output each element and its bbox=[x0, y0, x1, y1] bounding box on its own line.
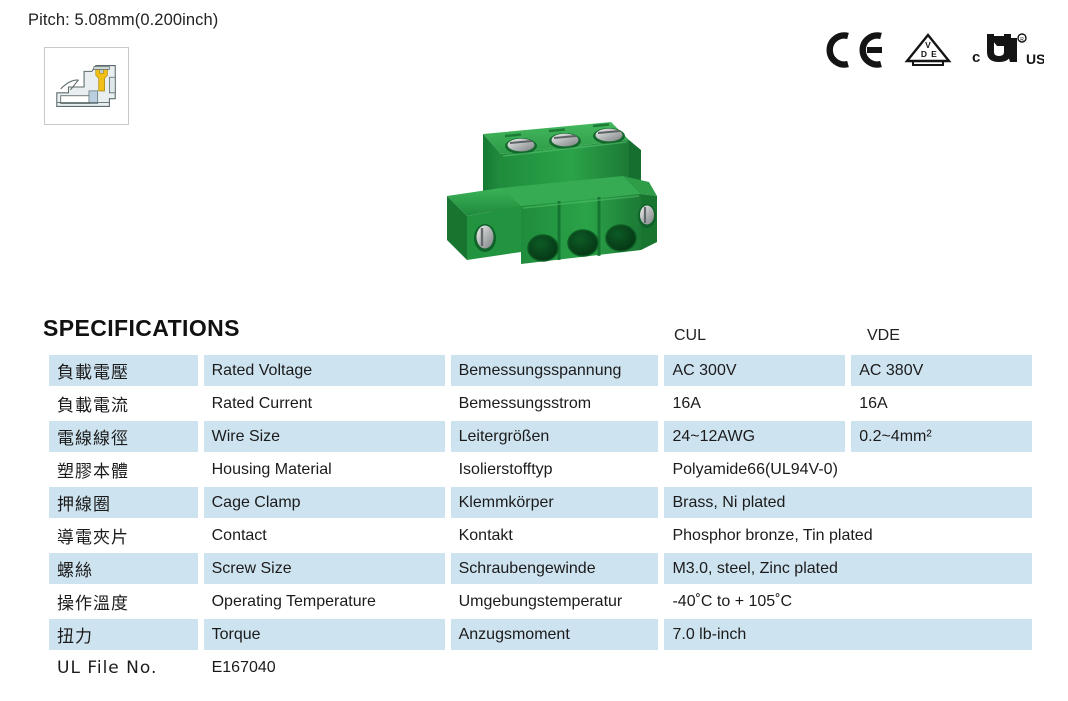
cell-value-cul: AC 300V bbox=[664, 355, 845, 386]
cell-label-de: Bemessungsstrom bbox=[451, 388, 659, 419]
cell-label-de: Anzugsmoment bbox=[451, 619, 659, 650]
svg-text:D: D bbox=[921, 49, 927, 59]
cell-label-en: Cage Clamp bbox=[204, 487, 445, 518]
cell-label-de: Schraubengewinde bbox=[451, 553, 659, 584]
cell-label-de: Bemessungsspannung bbox=[451, 355, 659, 386]
cell-label-de: Klemmkörper bbox=[451, 487, 659, 518]
cross-section-thumbnail[interactable] bbox=[44, 47, 129, 125]
cell-value-cul: 24~12AWG bbox=[664, 421, 845, 452]
cell-label-zh: 塑膠本體 bbox=[49, 454, 198, 485]
table-row: 押線圈Cage ClampKlemmkörperBrass, Ni plated bbox=[49, 487, 1032, 518]
terminal-block-plug-photo-icon bbox=[425, 100, 677, 296]
cell-label-zh: 押線圈 bbox=[49, 487, 198, 518]
cell-label-en: Operating Temperature bbox=[204, 586, 445, 617]
cell-empty bbox=[451, 652, 1032, 683]
cell-label-zh: 螺絲 bbox=[49, 553, 198, 584]
table-row: 負載電壓Rated VoltageBemessungsspannungAC 30… bbox=[49, 355, 1032, 386]
table-row: UL File No.E167040 bbox=[49, 652, 1032, 683]
cell-label-zh: UL File No. bbox=[49, 652, 198, 683]
cell-label-en: Rated Current bbox=[204, 388, 445, 419]
pitch-label: Pitch: 5.08mm(0.200inch) bbox=[28, 11, 218, 30]
cell-label-en: Housing Material bbox=[204, 454, 445, 485]
cert-column-header-cul: CUL bbox=[674, 327, 706, 345]
cell-label-zh: 扭力 bbox=[49, 619, 198, 650]
specifications-table: 負載電壓Rated VoltageBemessungsspannungAC 30… bbox=[43, 353, 1038, 685]
table-row: 負載電流Rated CurrentBemessungsstrom16A16A bbox=[49, 388, 1032, 419]
specifications-table-body: 負載電壓Rated VoltageBemessungsspannungAC 30… bbox=[49, 355, 1032, 683]
svg-text:US: US bbox=[1026, 51, 1044, 67]
cell-label-en: Wire Size bbox=[204, 421, 445, 452]
svg-text:R: R bbox=[1020, 37, 1024, 43]
svg-text:c: c bbox=[972, 49, 980, 66]
cell-label-en: Torque bbox=[204, 619, 445, 650]
cell-label-zh: 導電夾片 bbox=[49, 520, 198, 551]
cell-value-common: 7.0 lb-inch bbox=[664, 619, 1032, 650]
cell-label-de: Isolierstofftyp bbox=[451, 454, 659, 485]
cell-value-common: M3.0, steel, Zinc plated bbox=[664, 553, 1032, 584]
table-row: 扭力TorqueAnzugsmoment7.0 lb-inch bbox=[49, 619, 1032, 650]
cell-label-de: Kontakt bbox=[451, 520, 659, 551]
cross-section-diagram-icon bbox=[45, 48, 128, 124]
cell-value-cul: 16A bbox=[664, 388, 845, 419]
certification-marks: V D E c R US bbox=[824, 22, 1044, 78]
cell-value-common: Brass, Ni plated bbox=[664, 487, 1032, 518]
cell-label-en: Rated Voltage bbox=[204, 355, 445, 386]
table-row: 塑膠本體Housing MaterialIsolierstofftypPolya… bbox=[49, 454, 1032, 485]
ce-mark-icon bbox=[824, 32, 886, 68]
table-row: 電線線徑Wire SizeLeitergrößen24~12AWG0.2~4mm… bbox=[49, 421, 1032, 452]
svg-text:E: E bbox=[931, 49, 937, 59]
cell-label-zh: 電線線徑 bbox=[49, 421, 198, 452]
cert-column-header-vde: VDE bbox=[867, 327, 900, 345]
cell-label-zh: 負載電流 bbox=[49, 388, 198, 419]
cell-label-zh: 操作溫度 bbox=[49, 586, 198, 617]
product-image bbox=[425, 100, 677, 296]
cert-column-headers: CUL VDE bbox=[0, 327, 1068, 349]
table-row: 操作溫度Operating TemperatureUmgebungstemper… bbox=[49, 586, 1032, 617]
cell-value-common: Phosphor bronze, Tin plated bbox=[664, 520, 1032, 551]
cell-label-en: Contact bbox=[204, 520, 445, 551]
cell-label-de: Umgebungstemperatur bbox=[451, 586, 659, 617]
vde-mark-icon: V D E bbox=[904, 32, 952, 68]
cell-label-en: E167040 bbox=[204, 652, 445, 683]
cell-value-vde: AC 380V bbox=[851, 355, 1032, 386]
cell-value-vde: 0.2~4mm² bbox=[851, 421, 1032, 452]
table-row: 導電夾片ContactKontaktPhosphor bronze, Tin p… bbox=[49, 520, 1032, 551]
cell-label-en: Screw Size bbox=[204, 553, 445, 584]
cul-us-mark-icon: c R US bbox=[970, 29, 1044, 71]
table-row: 螺絲Screw SizeSchraubengewindeM3.0, steel,… bbox=[49, 553, 1032, 584]
cell-label-zh: 負載電壓 bbox=[49, 355, 198, 386]
cell-value-vde: 16A bbox=[851, 388, 1032, 419]
cell-value-common: -40˚C to + 105˚C bbox=[664, 586, 1032, 617]
cell-value-common: Polyamide66(UL94V-0) bbox=[664, 454, 1032, 485]
cell-label-de: Leitergrößen bbox=[451, 421, 659, 452]
